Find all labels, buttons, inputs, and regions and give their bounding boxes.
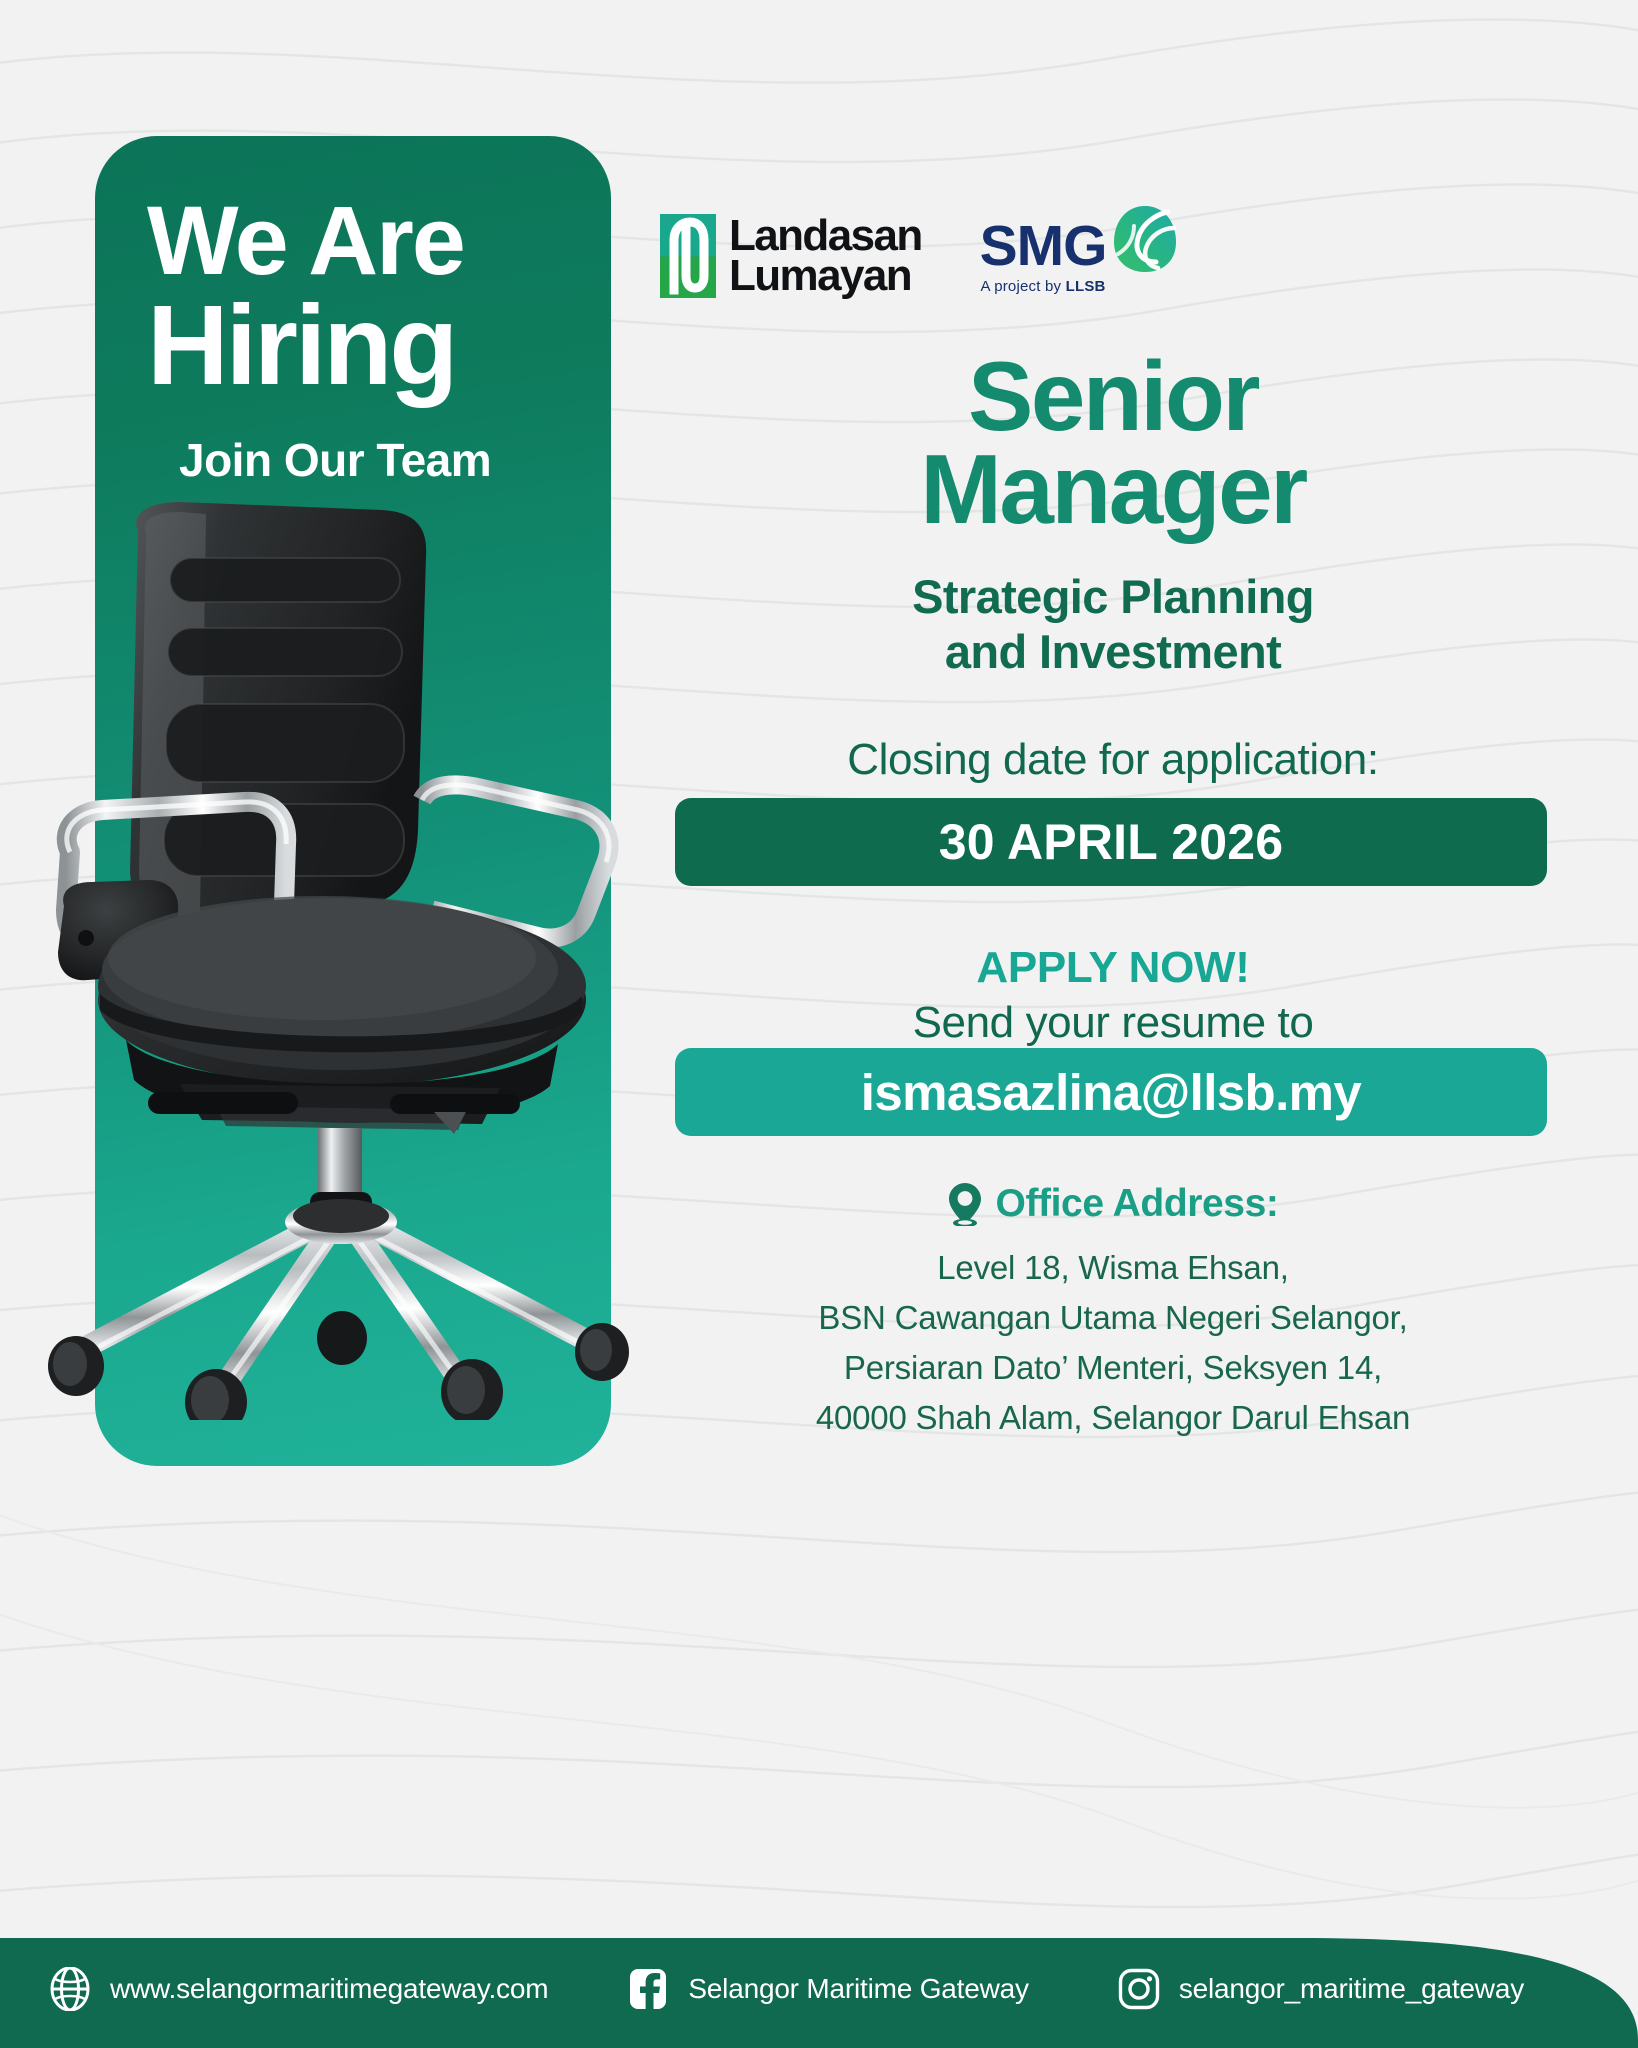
office-address-heading-text: Office Address:	[996, 1182, 1279, 1226]
office-address-lines: Level 18, Wisma Ehsan, BSN Cawangan Utam…	[648, 1243, 1578, 1444]
location-pin-icon	[948, 1182, 982, 1226]
job-department: Strategic Planning and Investment	[648, 570, 1578, 679]
tagline-join-our-team: Join Our Team	[95, 433, 611, 487]
footer-facebook[interactable]: Selangor Maritime Gateway	[626, 1967, 1028, 2011]
job-title-line1: Senior	[648, 350, 1578, 443]
headline-hiring: Hiring	[95, 292, 611, 399]
footer-website[interactable]: www.selangormaritimegateway.com	[48, 1967, 548, 2011]
address-line: 40000 Shah Alam, Selangor Darul Ehsan	[648, 1393, 1578, 1443]
email-badge[interactable]: ismasazlina@llsb.my	[675, 1048, 1547, 1136]
brand-line-lumayan: Lumayan	[729, 256, 922, 296]
smg-wordmark: SMG	[980, 218, 1107, 275]
footer-instagram[interactable]: selangor_maritime_gateway	[1117, 1967, 1524, 2011]
footer-facebook-text: Selangor Maritime Gateway	[688, 1973, 1028, 2005]
office-chair-photo	[30, 500, 670, 1420]
facebook-icon	[626, 1967, 670, 2011]
address-line: Persiaran Dato’ Menteri, Seksyen 14,	[648, 1343, 1578, 1393]
poster-right-column: Landasan Lumayan SMG A project by LLSB	[648, 0, 1638, 2048]
page-title: Senior Manager	[648, 350, 1578, 536]
landasan-monogram-icon	[660, 214, 716, 298]
globe-icon	[48, 1967, 92, 2011]
office-address-heading: Office Address:	[648, 1182, 1578, 1226]
footer-links: www.selangormaritimegateway.com Selangor…	[0, 1930, 1638, 2048]
smg-tagline-prefix: A project by	[980, 278, 1065, 295]
address-line: BSN Cawangan Utama Negeri Selangor,	[648, 1293, 1578, 1343]
job-title-line2: Manager	[648, 443, 1578, 536]
headline-we-are: We Are	[95, 136, 611, 288]
landasan-lumayan-logo: Landasan Lumayan	[660, 214, 922, 298]
smg-wordmark-block: SMG A project by LLSB	[980, 218, 1107, 295]
smg-tagline-llsb: LLSB	[1066, 278, 1106, 295]
smg-globe-icon	[1112, 204, 1178, 274]
instagram-icon	[1117, 1967, 1161, 2011]
footer-bar: www.selangormaritimegateway.com Selangor…	[0, 1930, 1638, 2048]
brand-line-landasan: Landasan	[729, 216, 922, 256]
hiring-poster: We Are Hiring Join Our Team	[0, 0, 1638, 2048]
footer-website-text: www.selangormaritimegateway.com	[110, 1973, 548, 2005]
hiring-headline-block: We Are Hiring Join Our Team	[95, 136, 611, 487]
apply-now-cta: APPLY NOW!	[648, 943, 1578, 993]
job-department-line1: Strategic Planning	[648, 570, 1578, 625]
smg-logo: SMG A project by LLSB	[980, 218, 1179, 295]
logo-row: Landasan Lumayan SMG A project by LLSB	[660, 196, 1620, 316]
landasan-lumayan-wordmark: Landasan Lumayan	[729, 216, 922, 297]
closing-date-badge: 30 APRIL 2026	[675, 798, 1547, 886]
send-resume-instruction: Send your resume to	[648, 998, 1578, 1048]
address-line: Level 18, Wisma Ehsan,	[648, 1243, 1578, 1293]
job-department-line2: and Investment	[648, 625, 1578, 680]
smg-tagline: A project by LLSB	[980, 278, 1105, 295]
footer-instagram-text: selangor_maritime_gateway	[1179, 1973, 1524, 2005]
closing-date-label: Closing date for application:	[648, 735, 1578, 785]
